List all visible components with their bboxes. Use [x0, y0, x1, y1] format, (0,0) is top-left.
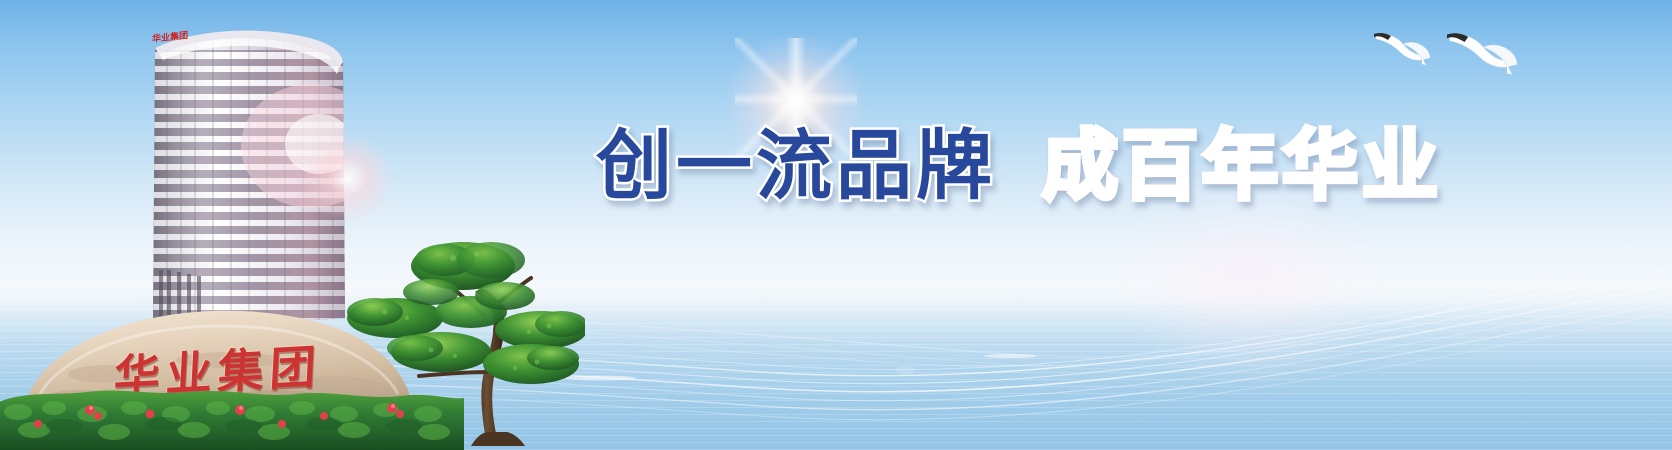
seagull-icon: [1447, 33, 1517, 74]
slogan-part-two: 成百年华业: [1042, 128, 1442, 204]
hero-banner: 华业集团: [0, 0, 1672, 450]
flowering-hedge: [0, 380, 464, 450]
seagull-icon: [1374, 33, 1430, 65]
slogan-part-one: 创一流品牌: [596, 128, 996, 204]
seagull-group: [1370, 8, 1550, 118]
slogan: 创一流品牌 成百年华业: [596, 128, 1442, 204]
